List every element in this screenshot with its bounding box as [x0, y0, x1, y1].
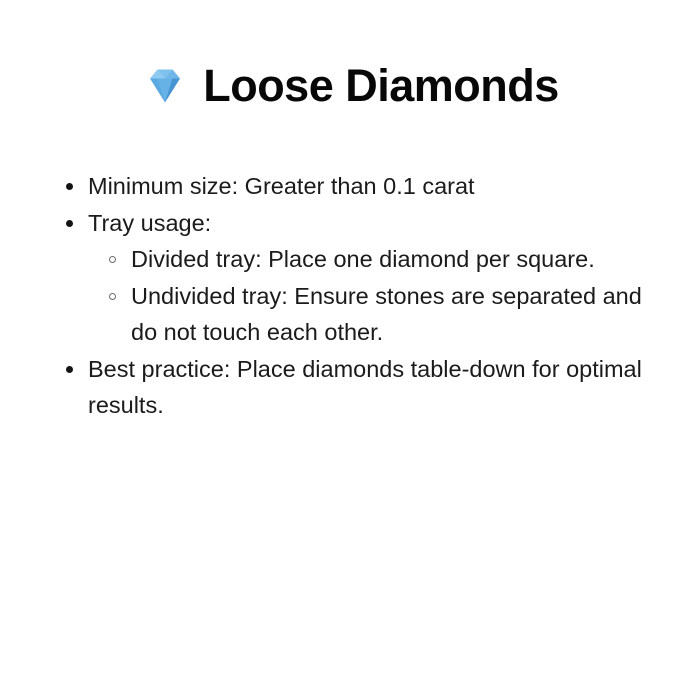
- sub-list-item-label: Undivided tray: Ensure stones are separa…: [131, 278, 642, 351]
- sub-list-item-label: Divided tray: Place one diamond per squa…: [131, 241, 642, 278]
- bullet-list-level1: Minimum size: Greater than 0.1 carat Tra…: [58, 168, 642, 424]
- sub-list-item: Undivided tray: Ensure stones are separa…: [102, 278, 642, 351]
- list-item: Tray usage: Divided tray: Place one diam…: [58, 205, 642, 351]
- sub-list-item: Divided tray: Place one diamond per squa…: [102, 241, 642, 278]
- bullet-list-container: Minimum size: Greater than 0.1 carat Tra…: [58, 168, 642, 424]
- page-title: Loose Diamonds: [203, 62, 559, 109]
- list-item: Minimum size: Greater than 0.1 carat: [58, 168, 642, 205]
- bullet-circle-icon: [109, 293, 116, 300]
- bullet-circle-icon: [109, 256, 116, 263]
- list-item-label: Best practice: Place diamonds table-down…: [88, 351, 642, 424]
- list-item: Best practice: Place diamonds table-down…: [58, 351, 642, 424]
- bullet-disc-icon: [66, 220, 73, 227]
- bullet-list-level2: Divided tray: Place one diamond per squa…: [88, 241, 642, 351]
- list-item-label: Minimum size: Greater than 0.1 carat: [88, 168, 642, 205]
- slide-canvas: Loose Diamonds Minimum size: Greater tha…: [0, 0, 700, 700]
- slide-heading: Loose Diamonds: [0, 62, 700, 110]
- bullet-disc-icon: [66, 366, 73, 373]
- gem-stone-icon: [141, 62, 189, 110]
- bullet-disc-icon: [66, 183, 73, 190]
- list-item-label: Tray usage:: [88, 205, 642, 242]
